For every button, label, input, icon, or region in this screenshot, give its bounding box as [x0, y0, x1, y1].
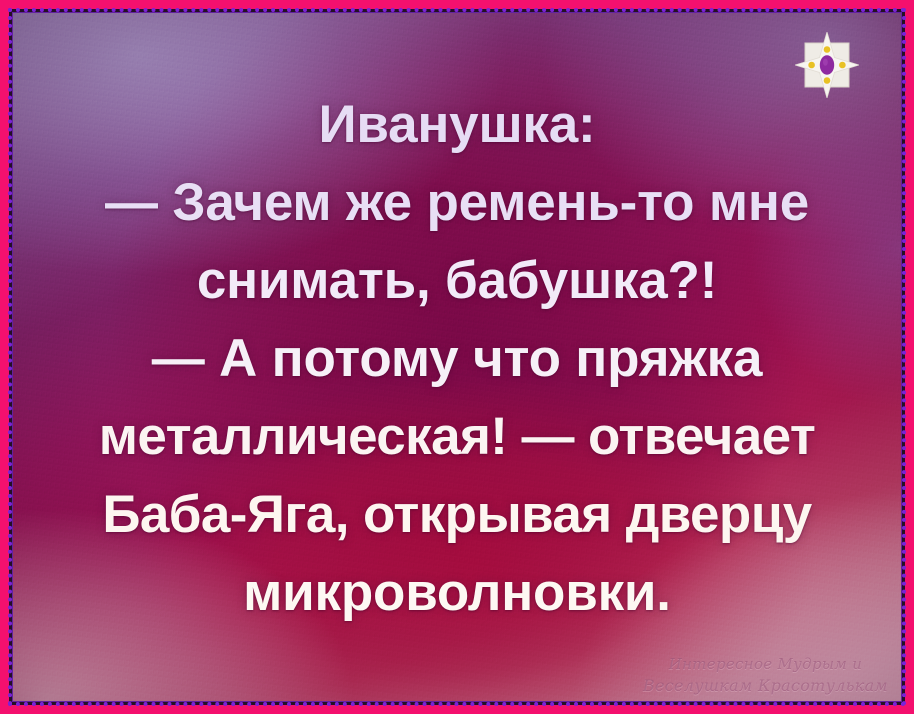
joke-line-2: — Зачем же ремень-то мне	[6, 164, 908, 242]
watermark-line-2: Веселушкам Красотулькам	[643, 675, 888, 696]
joke-image-card: Иванушка: — Зачем же ремень-то мне снима…	[0, 0, 914, 714]
joke-line-7: микроволновки.	[6, 554, 908, 632]
joke-text-block: Иванушка: — Зачем же ремень-то мне снима…	[0, 86, 914, 632]
watermark-line-1: Интересное Мудрым и	[643, 654, 888, 675]
joke-line-5: металлическая! — отвечает	[6, 398, 908, 476]
joke-line-1: Иванушка:	[6, 86, 908, 164]
joke-line-6: Баба-Яга, открывая дверцу	[6, 476, 908, 554]
watermark-signature: Интересное Мудрым и Веселушкам Красотуль…	[643, 654, 888, 696]
joke-line-4: — А потому что пряжка	[6, 320, 908, 398]
joke-line-3: снимать, бабушка?!	[6, 242, 908, 320]
